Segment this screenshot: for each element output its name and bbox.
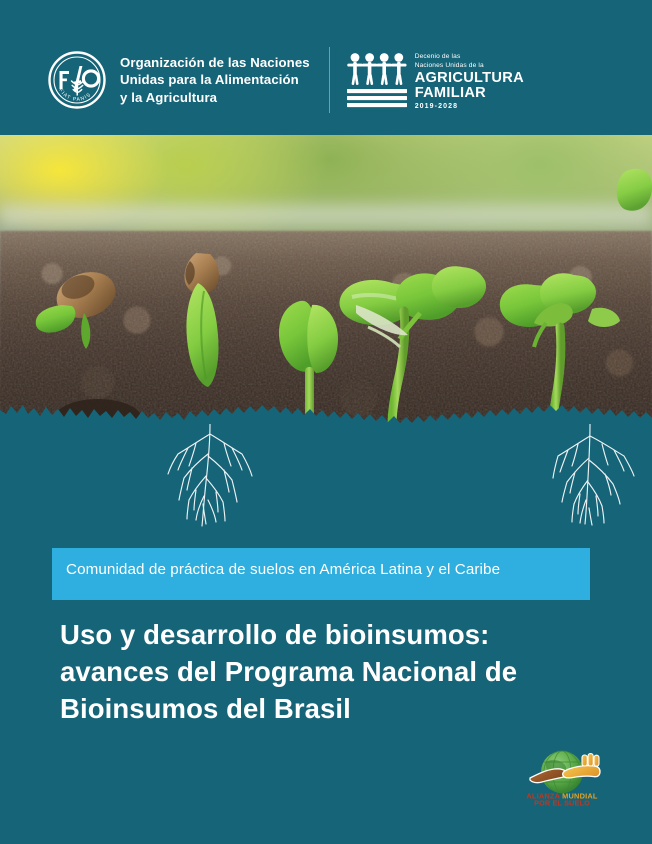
gsp-wordmark-line2: POR EL SUELO [534,799,590,806]
page-title: Uso y desarrollo de bioinsumos: avances … [60,616,580,727]
logo-row: FIAT PANIS Organización de las Naciones … [48,44,524,116]
fao-organization-name: Organización de las Naciones Unidas para… [120,54,310,107]
subtitle-text: Comunidad de práctica de suelos en Améri… [66,559,574,581]
root-illustration-right [552,424,644,526]
fao-emblem-icon: FIAT PANIS [48,51,106,109]
header-band: FIAT PANIS Organización de las Naciones … [0,0,652,135]
soil-ragged-edge [0,380,652,428]
document-cover-page: FIAT PANIS Organización de las Naciones … [0,0,652,844]
global-soil-partnership-logo: ALIANZA MUNDIAL POR EL SUELO [516,748,608,806]
family-farming-title: AGRICULTURA FAMILIAR [415,71,524,101]
seedling-6 [617,169,652,211]
family-farming-supertitle: Decenio de las Naciones Unidas de la [415,52,524,70]
family-farming-logo: Decenio de las Naciones Unidas de la AGR… [347,50,524,110]
family-farming-wordmark: Decenio de las Naciones Unidas de la AGR… [415,50,524,110]
family-farming-figures-icon [347,51,407,109]
header-divider [329,47,330,113]
family-farming-years: 2019-2028 [415,103,524,110]
subtitle-banner: Comunidad de práctica de suelos en Améri… [52,548,590,600]
svg-text:POR EL SUELO: POR EL SUELO [534,799,590,806]
seedling-1 [36,265,122,349]
seedling-2 [184,253,218,387]
root-illustration-left [158,424,262,528]
